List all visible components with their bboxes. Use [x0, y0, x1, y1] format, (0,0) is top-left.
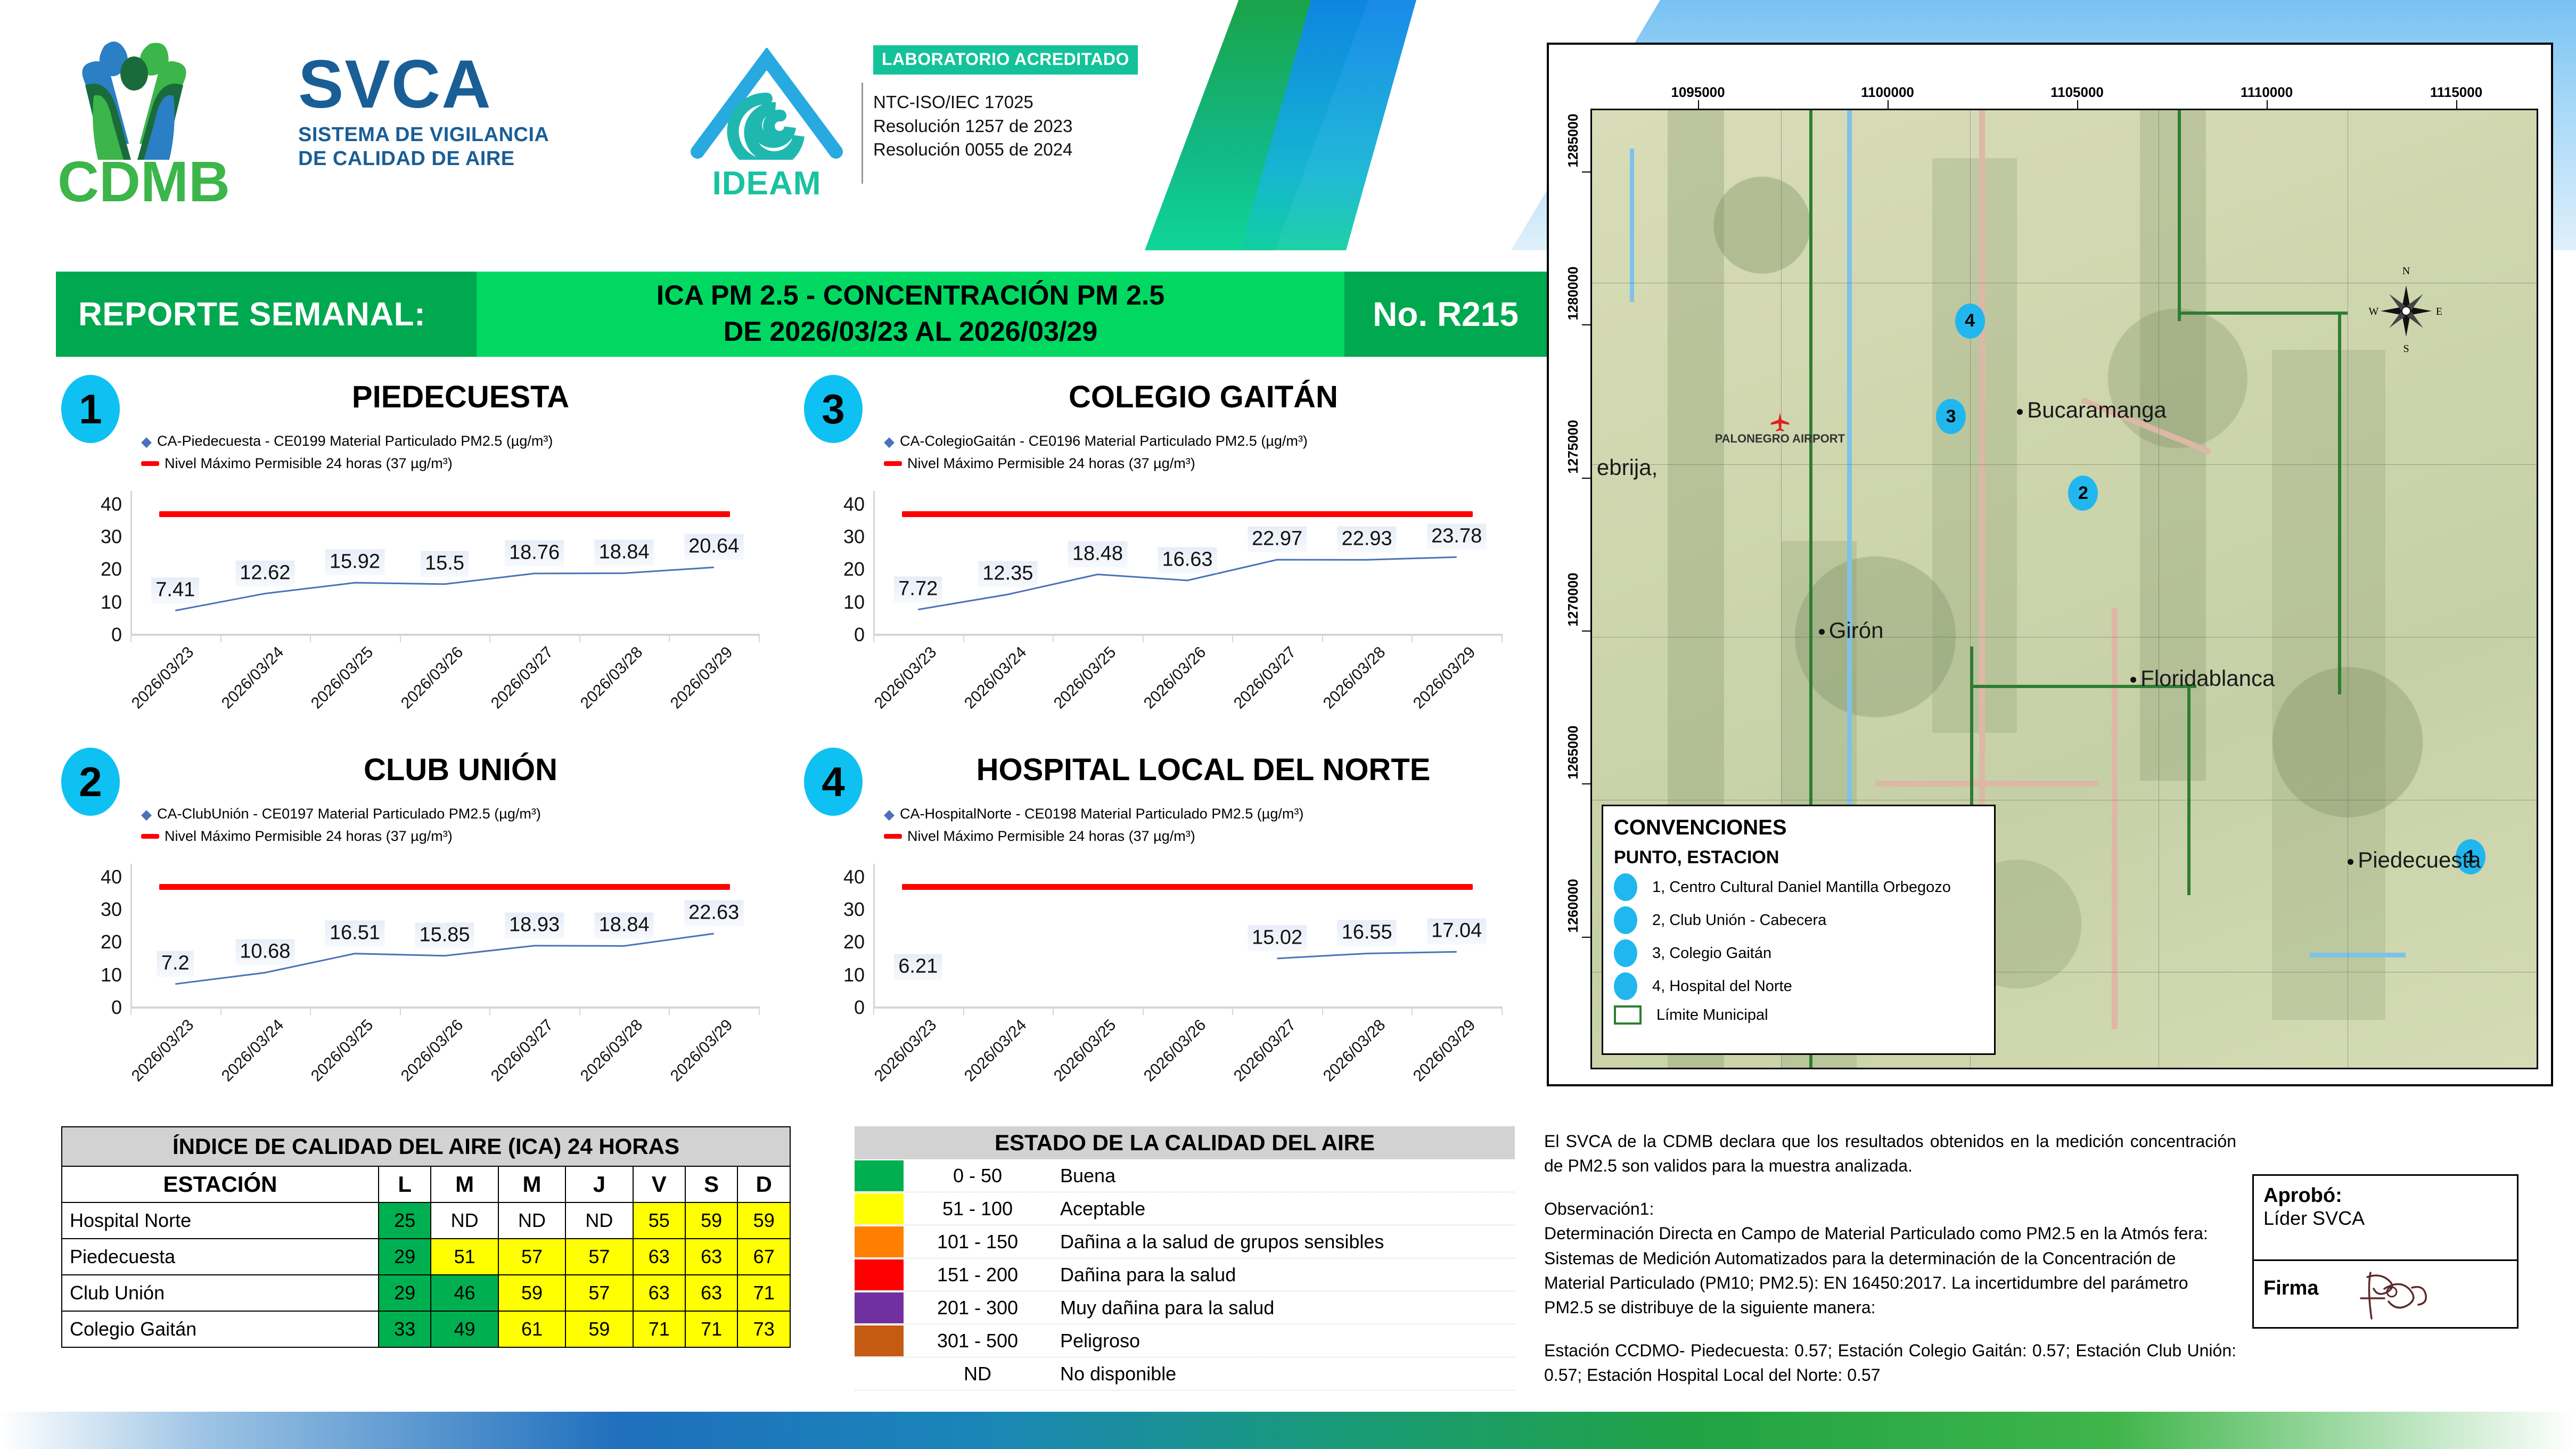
map-y-tick — [1582, 937, 1590, 938]
y-axis-tick: 10 — [101, 591, 122, 613]
y-axis: 010203040 — [825, 491, 870, 634]
panel-legend: ◆ CA-Piedecuesta - CE0199 Material Parti… — [141, 430, 553, 475]
data-label: 18.84 — [595, 913, 654, 939]
x-axis-label: 2026/03/27 — [487, 1016, 556, 1085]
ica-col-4: V — [633, 1166, 685, 1202]
svg-text:N: N — [2402, 265, 2410, 277]
map-city-label: Piedecuesta — [2358, 847, 2481, 872]
diamond-marker-icon: ◆ — [884, 435, 895, 448]
accreditation-block: LABORATORIO ACREDITADO NTC-ISO/IEC 17025… — [873, 45, 1203, 162]
aqi-range: 0 - 50 — [911, 1165, 1044, 1187]
legend-threshold-row: Nivel Máximo Permisible 24 horas (37 µg/… — [884, 453, 1308, 475]
y-axis-tick: 20 — [843, 558, 865, 580]
x-axis-label: 2026/03/26 — [398, 1016, 467, 1085]
map-y-tick — [1582, 324, 1590, 325]
x-axis-tick-mark — [669, 1006, 670, 1015]
x-axis-label: 2026/03/24 — [961, 643, 1030, 713]
data-label: 12.62 — [235, 560, 294, 586]
ica-cell: 63 — [685, 1239, 737, 1275]
compass-rose-icon: N S E W — [2366, 265, 2446, 355]
aqi-description: Dañina a la salud de grupos sensibles — [1044, 1231, 1515, 1253]
accreditation-line-2: Resolución 0055 de 2024 — [873, 138, 1203, 162]
x-axis-tick-mark — [579, 1006, 580, 1015]
ica-cell: 49 — [431, 1311, 498, 1347]
ica-cell: 63 — [633, 1275, 685, 1311]
plot-area: 0102030407.7212.3518.4816.6322.9722.9323… — [825, 491, 1533, 667]
threshold-line-icon — [141, 461, 159, 466]
map-y-coord: 1280000 — [1565, 267, 1581, 321]
legend-threshold-label: Nivel Máximo Permisible 24 horas (37 µg/… — [165, 453, 453, 475]
data-label: 12.35 — [978, 561, 1037, 587]
map-city-label: ebrija, — [1597, 455, 1658, 480]
chart-panel-piedecuesta: 1PIEDECUESTA ◆ CA-Piedecuesta - CE0199 M… — [51, 367, 807, 740]
ica-station-name: Piedecuesta — [62, 1239, 379, 1275]
x-axis-tick-mark — [963, 634, 964, 642]
list-item: 0 - 50 Buena — [855, 1159, 1515, 1192]
x-axis-tick-mark — [1502, 1006, 1503, 1015]
map-legend-item-4: 4, Hospital del Norte — [1614, 972, 1983, 1000]
panel-number-badge: 3 — [804, 375, 863, 443]
ica-cell: 51 — [431, 1239, 498, 1275]
legend-threshold-row: Nivel Máximo Permisible 24 horas (37 µg/… — [141, 825, 541, 848]
panel-title: PIEDECUESTA — [141, 379, 780, 415]
x-axis-tick-mark — [759, 634, 760, 642]
ica-col-0: L — [379, 1166, 431, 1202]
panel-title: COLEGIO GAITÁN — [884, 379, 1523, 415]
y-axis: 010203040 — [83, 491, 127, 634]
divider — [862, 83, 863, 184]
map-x-tick — [2456, 100, 2457, 109]
svg-text:CDMB: CDMB — [58, 149, 230, 208]
ica-cell: 67 — [737, 1239, 790, 1275]
ica-cell: 57 — [565, 1239, 633, 1275]
series-line — [873, 864, 1502, 1008]
x-axis-label: 2026/03/25 — [1051, 643, 1120, 713]
x-axis-tick-mark — [759, 1006, 760, 1015]
accreditation-badge: LABORATORIO ACREDITADO — [873, 45, 1138, 75]
legend-series-row: ◆ CA-ClubUnión - CE0197 Material Particu… — [141, 803, 541, 825]
aqi-range: ND — [911, 1363, 1044, 1385]
cdmb-logo: CDMB — [53, 32, 234, 208]
panel-number-badge: 2 — [61, 748, 120, 816]
aqi-description: Buena — [1044, 1165, 1515, 1187]
map-point-3[interactable]: 3 — [1936, 399, 1966, 434]
diamond-marker-icon: ◆ — [141, 807, 152, 821]
data-label: 18.84 — [595, 540, 654, 566]
x-axis-label: 2026/03/29 — [1410, 643, 1479, 713]
x-axis-label: 2026/03/29 — [667, 1016, 736, 1085]
x-axis-label: 2026/03/29 — [667, 643, 736, 713]
observation-title: Observación1: — [1544, 1197, 2236, 1221]
data-label: 15.85 — [415, 922, 474, 948]
aqi-range: 151 - 200 — [911, 1264, 1044, 1286]
approved-label: Aprobó: — [2263, 1184, 2517, 1207]
aqi-color-swatch — [855, 1292, 904, 1323]
observation-line-2: Sistemas de Medición Automatizados para … — [1544, 1246, 2236, 1320]
legend-threshold-row: Nivel Máximo Permisible 24 horas (37 µg/… — [141, 453, 553, 475]
ica-cell: 61 — [498, 1311, 565, 1347]
footer-gradient-bar — [0, 1412, 2576, 1449]
map-city-giron: Girón — [1819, 618, 1884, 643]
x-axis-tick-mark — [489, 634, 490, 642]
ica-col-6: D — [737, 1166, 790, 1202]
list-item: 51 - 100 Aceptable — [855, 1192, 1515, 1225]
aqi-color-swatch — [855, 1325, 904, 1356]
x-axis-tick-mark — [1322, 1006, 1323, 1015]
chart-panel-colegio-gaitan: 3COLEGIO GAITÁN ◆ CA-ColegioGaitán - CE0… — [793, 367, 1549, 740]
y-axis-tick: 10 — [101, 964, 122, 986]
map-y-coord: 1270000 — [1565, 572, 1581, 626]
y-axis-tick: 40 — [101, 866, 122, 888]
aqi-legend-title: ESTADO DE LA CALIDAD DEL AIRE — [855, 1126, 1515, 1159]
approved-role: Líder SVCA — [2263, 1207, 2517, 1230]
approval-row: Aprobó: Líder SVCA — [2254, 1176, 2517, 1261]
panel-title: HOSPITAL LOCAL DEL NORTE — [884, 752, 1523, 788]
y-axis-tick: 20 — [843, 931, 865, 953]
x-axis-tick-mark — [220, 634, 221, 642]
x-axis-tick-mark — [400, 1006, 401, 1015]
aqi-range: 201 - 300 — [911, 1297, 1044, 1319]
x-axis-tick-mark — [1322, 634, 1323, 642]
x-axis-label: 2026/03/25 — [1051, 1016, 1120, 1085]
ica-cell: 63 — [633, 1239, 685, 1275]
legend-series-label: CA-HospitalNorte - CE0198 Material Parti… — [900, 803, 1303, 825]
data-label: 22.97 — [1248, 527, 1307, 553]
map-legend-item-3: 3, Colegio Gaitán — [1614, 939, 1983, 967]
notes-block: El SVCA de la CDMB declara que los resul… — [1544, 1129, 2236, 1388]
observation-line-1: Determinación Directa en Campo de Materi… — [1544, 1221, 2236, 1246]
map-y-tick — [1582, 478, 1590, 479]
data-label: 20.64 — [684, 534, 743, 560]
legend-threshold-label: Nivel Máximo Permisible 24 horas (37 µg/… — [165, 825, 453, 848]
table-row: Piedecuesta29515757636367 — [62, 1239, 790, 1275]
aqi-description: Dañina para la salud — [1044, 1264, 1515, 1286]
list-item: ND No disponible — [855, 1357, 1515, 1390]
data-label: 15.5 — [421, 551, 469, 577]
aqi-color-swatch — [855, 1193, 904, 1224]
map-legend-item-1: 1, Centro Cultural Daniel Mantilla Orbeg… — [1614, 873, 1983, 901]
ica-cell: 29 — [379, 1239, 431, 1275]
report-title: ICA PM 2.5 - CONCENTRACIÓN PM 2.5 DE 202… — [477, 272, 1344, 357]
station-dot-icon — [1614, 873, 1637, 901]
ideam-label: IDEAM — [687, 165, 847, 202]
map-y-coord: 1265000 — [1565, 726, 1581, 780]
ica-station-name: Club Unión — [62, 1275, 379, 1311]
aqi-description: Aceptable — [1044, 1198, 1515, 1220]
legend-series-row: ◆ CA-HospitalNorte - CE0198 Material Par… — [884, 803, 1303, 825]
chart-panel-club-union: 2CLUB UNIÓN ◆ CA-ClubUnión - CE0197 Mate… — [51, 740, 807, 1113]
ica-cell: 55 — [633, 1202, 685, 1239]
ica-col-3: J — [565, 1166, 633, 1202]
aqi-color-swatch — [855, 1259, 904, 1290]
x-axis-tick-mark — [220, 1006, 221, 1015]
map-x-coord: 1115000 — [2430, 84, 2482, 101]
svg-text:S: S — [2403, 343, 2409, 355]
ica-table-body: Hospital Norte25NDNDND555959 Piedecuesta… — [62, 1202, 790, 1347]
svg-text:W: W — [2369, 306, 2379, 317]
legend-threshold-row: Nivel Máximo Permisible 24 horas (37 µg/… — [884, 825, 1303, 848]
y-axis-tick: 10 — [843, 964, 865, 986]
svca-acronym: SVCA — [298, 51, 639, 119]
table-row: Club Unión29465957636371 — [62, 1275, 790, 1311]
svca-subtitle-line2: DE CALIDAD DE AIRE — [298, 147, 639, 171]
aqi-color-swatch — [855, 1160, 904, 1191]
legend-threshold-label: Nivel Máximo Permisible 24 horas (37 µg/… — [907, 825, 1195, 848]
x-axis-label: 2026/03/27 — [1230, 643, 1299, 713]
data-label: 7.41 — [151, 577, 199, 603]
map-city-lebrija: ebrija, — [1597, 455, 1658, 480]
x-axis-label: 2026/03/23 — [871, 1016, 940, 1085]
x-axis-tick-mark — [400, 634, 401, 642]
aqi-color-swatch — [855, 1226, 904, 1257]
accreditation-line-1: Resolución 1257 de 2023 — [873, 114, 1203, 138]
y-axis-tick: 30 — [101, 526, 122, 548]
signature-row: Firma — [2254, 1261, 2517, 1329]
panel-legend: ◆ CA-ColegioGaitán - CE0196 Material Par… — [884, 430, 1308, 475]
x-axis-tick-mark — [669, 634, 670, 642]
map-city-label: Girón — [1829, 618, 1884, 643]
svca-subtitle-line1: SISTEMA DE VIGILANCIA — [298, 123, 639, 147]
ica-station-name: Hospital Norte — [62, 1202, 379, 1239]
ica-cell: 57 — [498, 1239, 565, 1275]
ica-cell: 25 — [379, 1202, 431, 1239]
ica-cell: 63 — [685, 1275, 737, 1311]
x-axis-label: 2026/03/28 — [1320, 1016, 1389, 1085]
data-label: 15.02 — [1248, 925, 1307, 951]
x-axis-label: 2026/03/29 — [1410, 1016, 1479, 1085]
data-label: 22.63 — [684, 900, 743, 927]
panel-title: CLUB UNIÓN — [141, 752, 780, 788]
airport-label: PALONEGRO AIRPORT — [1715, 412, 1845, 446]
data-label: 18.93 — [505, 912, 564, 938]
svca-wordmark: SVCA SISTEMA DE VIGILANCIA DE CALIDAD DE… — [298, 51, 639, 171]
report-title-bar: REPORTE SEMANAL: ICA PM 2.5 - CONCENTRAC… — [56, 272, 1547, 357]
ica-cell: 71 — [737, 1275, 790, 1311]
x-axis-tick-mark — [1502, 634, 1503, 642]
threshold-line-icon — [884, 461, 902, 466]
ica-cell: 59 — [565, 1311, 633, 1347]
location-map: 4 3 2 1 Bucaramanga Girón Floridablanca … — [1547, 43, 2553, 1086]
x-axis-tick-mark — [1412, 634, 1413, 642]
legend-series-row: ◆ CA-ColegioGaitán - CE0196 Material Par… — [884, 430, 1308, 453]
x-axis-tick-mark — [579, 634, 580, 642]
data-label: 22.93 — [1338, 527, 1397, 553]
x-axis-label: 2026/03/27 — [487, 643, 556, 713]
threshold-line-icon — [884, 834, 902, 839]
approval-box: Aprobó: Líder SVCA Firma — [2252, 1174, 2518, 1329]
x-axis-label: 2026/03/24 — [961, 1016, 1030, 1085]
data-label: 7.2 — [157, 951, 194, 977]
x-axis-tick-mark — [1053, 1006, 1054, 1015]
map-legend-item-label: 4, Hospital del Norte — [1652, 978, 1792, 995]
ica-cell: 59 — [685, 1202, 737, 1239]
x-axis-tick-mark — [873, 1006, 874, 1015]
y-axis-tick: 40 — [101, 493, 122, 515]
aqi-range: 301 - 500 — [911, 1330, 1044, 1352]
map-y-tick — [1582, 631, 1590, 632]
list-item: 151 - 200 Dañina para la salud — [855, 1258, 1515, 1291]
ica-cell: 46 — [431, 1275, 498, 1311]
aqi-color-swatch — [855, 1358, 904, 1389]
map-legend-title: CONVENCIONES — [1614, 816, 1983, 840]
ica-table: ÍNDICE DE CALIDAD DEL AIRE (ICA) 24 HORA… — [61, 1126, 791, 1348]
panel-legend: ◆ CA-ClubUnión - CE0197 Material Particu… — [141, 803, 541, 848]
ica-table-title: ÍNDICE DE CALIDAD DEL AIRE (ICA) 24 HORA… — [62, 1127, 790, 1166]
map-legend-boundary-label: Límite Municipal — [1656, 1006, 1768, 1024]
x-axis-tick-mark — [130, 1006, 132, 1015]
data-label: 16.51 — [325, 920, 384, 946]
data-label: 6.21 — [894, 954, 942, 980]
ica-col-5: S — [685, 1166, 737, 1202]
data-label: 17.04 — [1427, 919, 1486, 945]
legend-series-label: CA-ColegioGaitán - CE0196 Material Parti… — [900, 430, 1308, 453]
aqi-description: Muy dañina para la salud — [1044, 1297, 1515, 1319]
aqi-range: 101 - 150 — [911, 1231, 1044, 1253]
aqi-legend-rows: 0 - 50 Buena 51 - 100 Aceptable 101 - 15… — [855, 1159, 1515, 1390]
signature-label: Firma — [2263, 1277, 2318, 1299]
list-item: 101 - 150 Dañina a la salud de grupos se… — [855, 1225, 1515, 1258]
data-label: 18.48 — [1068, 541, 1127, 567]
x-axis-label: 2026/03/23 — [128, 643, 198, 713]
y-axis-tick: 40 — [843, 866, 865, 888]
map-legend-item-label: 3, Colegio Gaitán — [1652, 945, 1771, 962]
map-legend-item-label: 1, Centro Cultural Daniel Mantilla Orbeg… — [1652, 879, 1951, 896]
ica-cell: 71 — [685, 1311, 737, 1347]
data-label: 7.72 — [894, 576, 942, 602]
map-legend: CONVENCIONES PUNTO, ESTACION 1, Centro C… — [1602, 805, 1996, 1055]
map-x-tick — [1888, 100, 1889, 109]
map-y-tick — [1582, 171, 1590, 173]
map-legend-item-2: 2, Club Unión - Cabecera — [1614, 906, 1983, 934]
airplane-icon — [1770, 412, 1790, 432]
map-x-coord: 1105000 — [2050, 84, 2104, 101]
map-y-coord: 1275000 — [1565, 420, 1581, 473]
map-x-coord: 1110000 — [2241, 84, 2293, 101]
x-axis-tick-mark — [1232, 1006, 1233, 1015]
ica-cell: 73 — [737, 1311, 790, 1347]
data-label: 16.63 — [1158, 547, 1217, 573]
x-axis-label: 2026/03/27 — [1230, 1016, 1299, 1085]
y-axis-tick: 0 — [111, 624, 122, 646]
table-row: Colegio Gaitán33496159717173 — [62, 1311, 790, 1347]
plot-area: 0102030406.2115.0216.5517.042026/03/2320… — [825, 864, 1533, 1039]
x-axis-tick-mark — [1143, 1006, 1144, 1015]
x-axis-label: 2026/03/28 — [577, 643, 646, 713]
report-number: No. R215 — [1344, 272, 1547, 357]
airport-name: PALONEGRO AIRPORT — [1715, 432, 1845, 445]
ideam-logo: IDEAM — [687, 48, 847, 202]
ica-cell: 57 — [565, 1275, 633, 1311]
table-row: Hospital Norte25NDNDND555959 — [62, 1202, 790, 1239]
report-title-line1: ICA PM 2.5 - CONCENTRACIÓN PM 2.5 — [657, 278, 1164, 314]
x-axis-tick-mark — [1053, 634, 1054, 642]
y-axis-tick: 30 — [101, 898, 122, 921]
x-axis-tick-mark — [963, 1006, 964, 1015]
x-axis-label: 2026/03/23 — [871, 643, 940, 713]
y-axis-tick: 0 — [854, 996, 865, 1019]
map-y-coord: 1285000 — [1565, 113, 1581, 167]
map-legend-subtitle: PUNTO, ESTACION — [1614, 847, 1983, 868]
list-item: 301 - 500 Peligroso — [855, 1324, 1515, 1357]
map-city-bucaramanga: Bucaramanga — [2017, 397, 2167, 423]
ica-col-station: ESTACIÓN — [62, 1166, 379, 1202]
map-legend-boundary: Límite Municipal — [1614, 1005, 1983, 1025]
ica-cell: 59 — [498, 1275, 565, 1311]
aqi-legend: ESTADO DE LA CALIDAD DEL AIRE 0 - 50 Bue… — [855, 1126, 1515, 1390]
map-legend-item-label: 2, Club Unión - Cabecera — [1652, 912, 1826, 929]
station-dot-icon — [1614, 939, 1637, 967]
x-axis-label: 2026/03/28 — [1320, 643, 1389, 713]
x-axis-label: 2026/03/23 — [128, 1016, 198, 1085]
report-type-label: REPORTE SEMANAL: — [56, 272, 477, 357]
panel-number-badge: 4 — [804, 748, 863, 816]
x-axis-tick-mark — [1232, 634, 1233, 642]
map-point-4[interactable]: 4 — [1955, 304, 1985, 339]
map-x-tick — [2077, 100, 2078, 109]
data-label: 15.92 — [325, 550, 384, 576]
svg-text:E: E — [2436, 306, 2442, 317]
map-x-tick — [2267, 100, 2268, 109]
map-x-coord: 1100000 — [1861, 84, 1914, 101]
ica-cell: 71 — [633, 1311, 685, 1347]
accreditation-line-0: NTC-ISO/IEC 17025 — [873, 91, 1203, 114]
report-title-line2: DE 2026/03/23 AL 2026/03/29 — [724, 314, 1098, 350]
x-axis-label: 2026/03/24 — [218, 1016, 288, 1085]
y-axis: 010203040 — [825, 864, 870, 1006]
chart-panel-hospital-norte: 4HOSPITAL LOCAL DEL NORTE ◆ CA-HospitalN… — [793, 740, 1549, 1113]
map-city-piedecuesta: Piedecuesta — [2348, 847, 2481, 873]
ica-col-2: M — [498, 1166, 565, 1202]
y-axis-tick: 30 — [843, 526, 865, 548]
diamond-marker-icon: ◆ — [141, 435, 152, 448]
map-city-label: Floridablanca — [2140, 666, 2275, 691]
y-axis-tick: 40 — [843, 493, 865, 515]
boundary-swatch-icon — [1614, 1005, 1642, 1025]
data-label: 10.68 — [235, 939, 294, 965]
ica-table-header-row: ESTACIÓNLMMJVSD — [62, 1166, 790, 1202]
ica-cell: ND — [498, 1202, 565, 1239]
diamond-marker-icon: ◆ — [884, 807, 895, 821]
legend-series-label: CA-ClubUnión - CE0197 Material Particula… — [157, 803, 541, 825]
y-axis: 010203040 — [83, 864, 127, 1006]
x-axis-label: 2026/03/25 — [308, 1016, 377, 1085]
declaration-text: El SVCA de la CDMB declara que los resul… — [1544, 1129, 2236, 1178]
x-axis-tick-mark — [310, 1006, 311, 1015]
map-y-coord: 1260000 — [1565, 879, 1581, 932]
x-axis-label: 2026/03/26 — [398, 643, 467, 713]
ica-cell: 29 — [379, 1275, 431, 1311]
ica-cell: 59 — [737, 1202, 790, 1239]
x-axis-tick-mark — [130, 634, 132, 642]
map-point-2[interactable]: 2 — [2068, 476, 2098, 511]
ica-station-name: Colegio Gaitán — [62, 1311, 379, 1347]
x-axis-tick-mark — [1412, 1006, 1413, 1015]
uncertainty-text: Estación CCDMO- Piedecuesta: 0.57; Estac… — [1544, 1338, 2236, 1388]
x-axis-tick-mark — [310, 634, 311, 642]
accreditation-lines: NTC-ISO/IEC 17025 Resolución 1257 de 202… — [873, 91, 1203, 162]
map-city-label: Bucaramanga — [2027, 397, 2167, 422]
x-axis-tick-mark — [489, 1006, 490, 1015]
x-axis-tick-mark — [1143, 634, 1144, 642]
y-axis-tick: 0 — [111, 996, 122, 1019]
aqi-description: Peligroso — [1044, 1330, 1515, 1352]
data-label: 16.55 — [1338, 920, 1397, 946]
ica-col-1: M — [431, 1166, 498, 1202]
y-axis-tick: 10 — [843, 591, 865, 613]
map-y-tick — [1582, 783, 1590, 784]
station-dot-icon — [1614, 972, 1637, 1000]
ica-cell: ND — [431, 1202, 498, 1239]
